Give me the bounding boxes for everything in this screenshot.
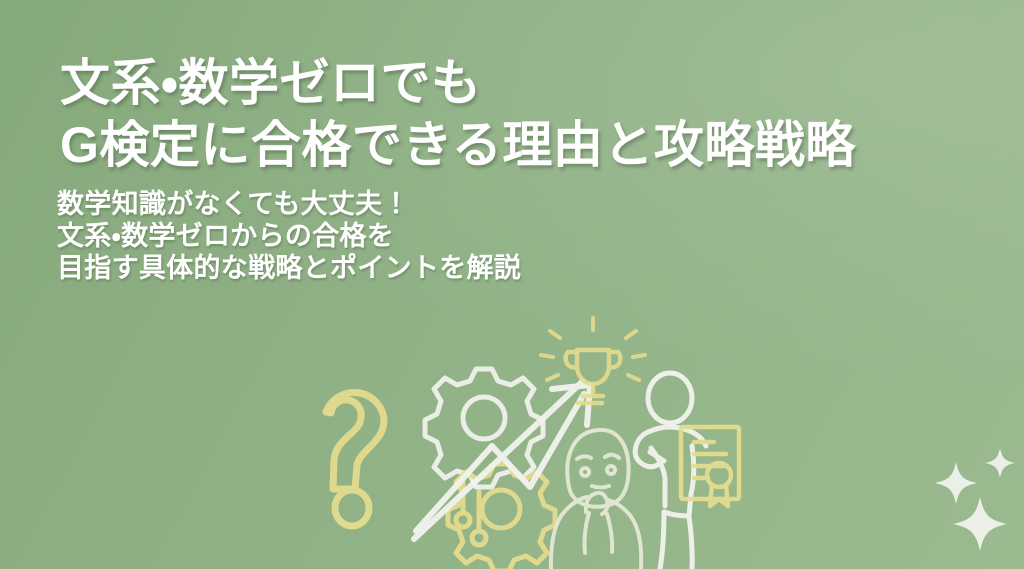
gear-icon xyxy=(425,369,543,487)
text-block: 文系・数学ゼロでも G検定に合格できる理由と攻略戦略 数学知識がなくても大丈夫！… xyxy=(57,52,1017,284)
title-line-1: 文系・数学ゼロでも xyxy=(60,52,1017,114)
title-line-2: G検定に合格できる理由と攻略戦略 xyxy=(60,114,1017,176)
trophy-icon xyxy=(541,318,645,403)
standing-person-icon xyxy=(635,373,706,569)
gear-circuit-icon xyxy=(448,464,555,569)
question-mark-icon xyxy=(326,392,384,526)
sparkles-icon xyxy=(935,448,1015,551)
subtitle-line-1: 数学知識がなくても大丈夫！ xyxy=(57,188,1017,220)
subtitle-line-3: 目指す具体的な戦略とポイントを解説 xyxy=(57,252,1017,284)
subtitle-line-2: 文系・数学ゼロからの合格を xyxy=(57,220,1017,252)
page-title: 文系・数学ゼロでも G検定に合格できる理由と攻略戦略 xyxy=(60,52,1017,176)
growth-arrow-icon xyxy=(414,381,590,539)
certificate-icon xyxy=(681,427,739,506)
thinking-person-icon xyxy=(551,430,641,569)
page-subtitle: 数学知識がなくても大丈夫！ 文系・数学ゼロからの合格を 目指す具体的な戦略とポイ… xyxy=(57,188,1017,284)
banner-canvas: 文系・数学ゼロでも G検定に合格できる理由と攻略戦略 数学知識がなくても大丈夫！… xyxy=(0,0,1024,569)
